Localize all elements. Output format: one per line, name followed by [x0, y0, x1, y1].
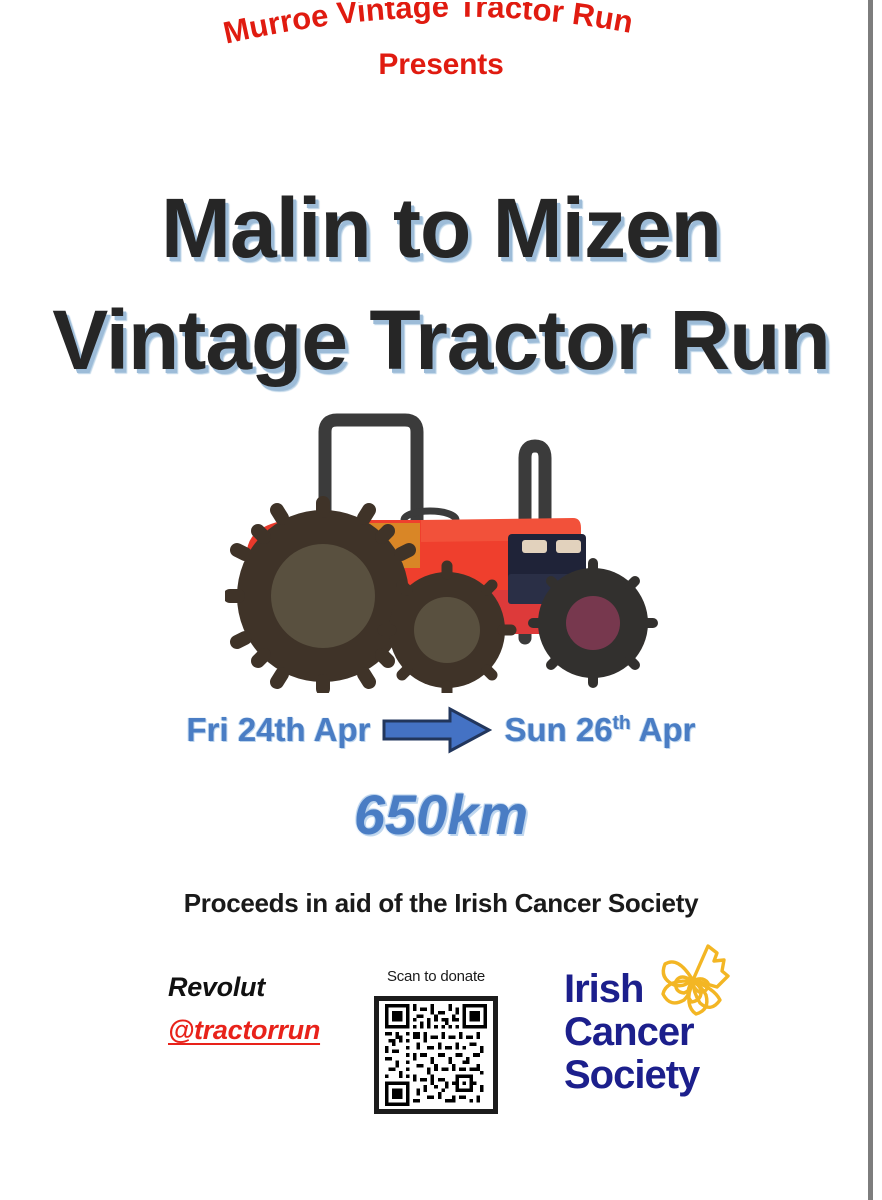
distance-value: 650km [354, 783, 528, 846]
distance-block: 650km [0, 782, 882, 847]
date-range-row: Fri 24th Apr Sun 26th Apr [0, 706, 882, 754]
page-title: Malin to Mizen Vintage Tractor Run [0, 172, 882, 396]
end-date-ordinal: th [613, 713, 631, 734]
header-presents-text: Presents [0, 48, 882, 82]
tractor-illustration [225, 408, 665, 693]
ics-line-3: Society [564, 1054, 699, 1097]
ics-line-2: Cancer [564, 1011, 699, 1054]
header-arched-text: Murroe Vintage Tractor Run [220, 2, 636, 51]
qr-caption: Scan to donate [370, 968, 502, 985]
page-edge-gap [873, 0, 882, 1200]
end-date-month: Apr [631, 711, 696, 748]
title-line-2: Vintage Tractor Run [0, 284, 882, 396]
ics-line-1: Irish [564, 968, 699, 1011]
donation-section: Revolut @tractorrun Scan to donate [0, 930, 858, 1140]
revolut-label: Revolut [168, 972, 368, 1003]
end-date-number: Sun 26 [504, 711, 612, 748]
revolut-handle-link[interactable]: @tractorrun [168, 1015, 320, 1046]
revolut-group: Revolut @tractorrun [168, 972, 368, 1046]
irish-cancer-society-logo: Irish Cancer Society [560, 940, 760, 1100]
right-arrow-icon [382, 706, 492, 754]
qr-group: Scan to donate [370, 968, 502, 1114]
proceeds-text: Proceeds in aid of the Irish Cancer Soci… [0, 888, 882, 919]
poster-page: Murroe Vintage Tractor Run Presents Mali… [0, 0, 882, 1200]
title-line-1: Malin to Mizen [0, 172, 882, 284]
irish-cancer-society-wordmark: Irish Cancer Society [564, 968, 699, 1097]
end-date-text: Sun 26th Apr [504, 711, 695, 749]
start-date-text: Fri 24th Apr [186, 711, 370, 749]
qr-code[interactable] [374, 996, 498, 1114]
